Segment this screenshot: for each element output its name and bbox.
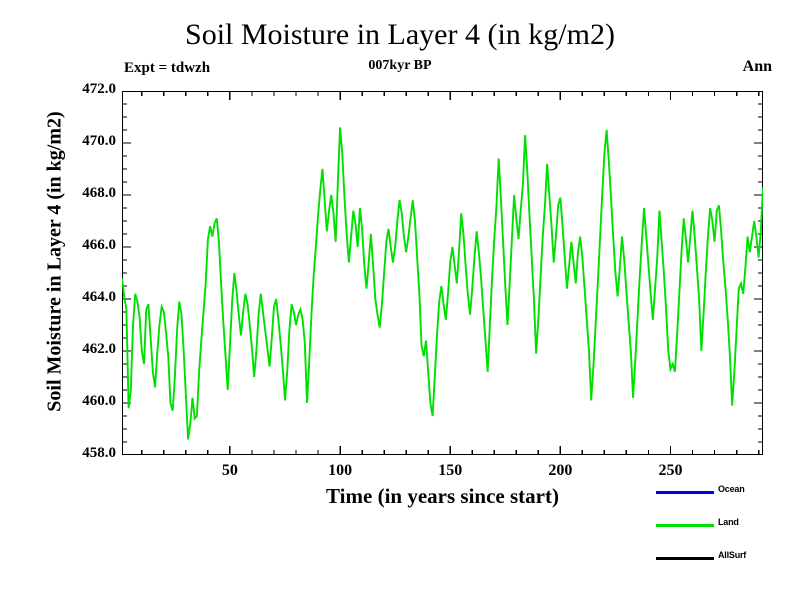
legend-swatch-allsurf — [656, 557, 714, 560]
x-tick-label: 50 — [200, 462, 260, 480]
y-axis-title: Soil Moisture in Layer 4 (in kg/m2) — [44, 97, 67, 427]
legend-item-ocean[interactable]: Ocean — [650, 484, 800, 500]
legend-swatch-land — [656, 524, 714, 527]
legend-item-allsurf[interactable]: AllSurf — [650, 550, 800, 566]
y-axis-title-wrap: Soil Moisture in Layer 4 (in kg/m2) — [0, 0, 1, 1]
legend-label: Ocean — [718, 484, 745, 494]
data-series-canvas — [122, 91, 763, 455]
plot-area — [122, 91, 763, 455]
legend-swatch-ocean — [656, 491, 714, 494]
x-tick-label: 250 — [640, 462, 700, 480]
series-line-land — [122, 127, 763, 439]
x-tick-label: 200 — [530, 462, 590, 480]
legend-label: AllSurf — [718, 550, 746, 560]
x-tick-label: 150 — [420, 462, 480, 480]
x-tick-label: 100 — [310, 462, 370, 480]
legend: OceanLandAllSurf — [650, 484, 800, 574]
chart-root: Soil Moisture in Layer 4 (in kg/m2) 007k… — [0, 0, 800, 600]
legend-item-land[interactable]: Land — [650, 517, 800, 533]
legend-label: Land — [718, 517, 739, 527]
